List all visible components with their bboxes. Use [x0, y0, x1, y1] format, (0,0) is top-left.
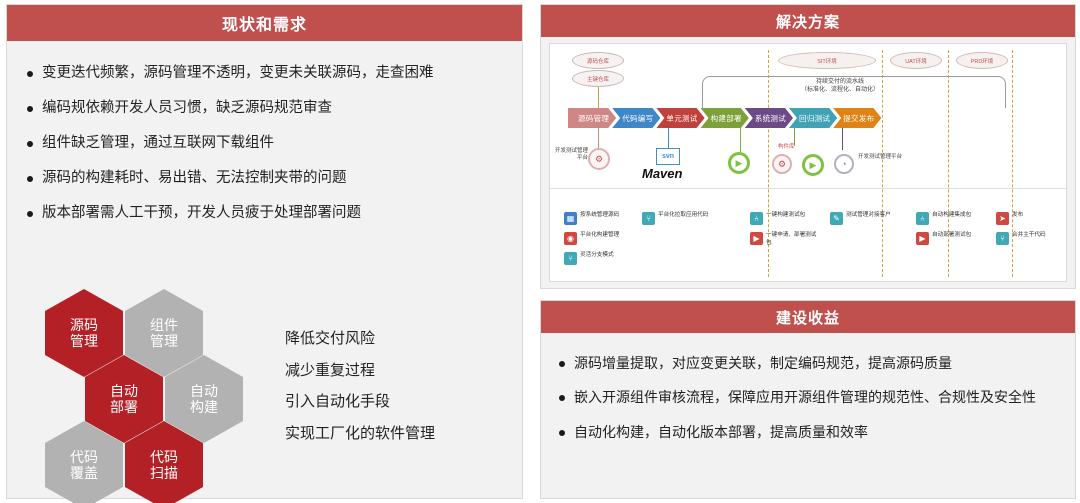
- bullet-text: 组件缺乏管理，通过互联网下载组件: [42, 133, 274, 154]
- solution-title: 解决方案: [541, 5, 1075, 37]
- goal-item: 降低交付风险: [285, 329, 515, 349]
- branch-icon: ⑂: [642, 212, 655, 225]
- pipeline-label-line2: （标准化、流程化、自动化）: [801, 87, 879, 93]
- release-icon: ➤: [996, 212, 1009, 225]
- stage-stem-line: [668, 128, 669, 148]
- play-icon: ▶: [802, 154, 824, 176]
- stage-system-test[interactable]: 系统测试: [745, 108, 793, 128]
- solution-panel: 解决方案 源码仓库 主键仓库 SIT环境 UAT环境 PRD环境 持续: [540, 4, 1076, 289]
- pipeline-bracket-label: 持续交付的流水线 （标准化、流程化、自动化）: [740, 78, 940, 94]
- solution-body: 源码仓库 主键仓库 SIT环境 UAT环境 PRD环境 持续交付的流水线 （标准…: [541, 37, 1075, 288]
- stage-unit-test[interactable]: 单元测试: [656, 108, 704, 128]
- benefit-body: 源码增量提取，对应变更关联，制定编码规范，提高源码质量 嵌入开源组件审核流程，保…: [541, 333, 1075, 498]
- hexagon-label-line1: 源码: [70, 317, 98, 333]
- hexagon-label-line2: 扫描: [150, 465, 178, 481]
- capability-hexagon-cluster: 源码管理 组件管理 自动部署 自动构建 代码覆盖 代码扫描: [33, 289, 263, 503]
- hexagon-label-line1: 自动: [110, 383, 138, 399]
- list-item: ▶ 自动部署测试包: [916, 232, 986, 245]
- stage-code-writing[interactable]: 代码编写: [612, 108, 660, 128]
- repo-connector-line: [598, 87, 599, 108]
- list-item: ⑃ 自动构建集成包: [916, 212, 986, 225]
- hexagon-label-line2: 部署: [110, 399, 138, 415]
- capability-column-5: ⑃ 自动构建集成包 ▶ 自动部署测试包: [916, 212, 986, 252]
- list-item: ⑂ 合并主干代码: [996, 232, 1067, 245]
- capability-label: 自动部署测试包: [932, 232, 971, 240]
- source-repo-oval: 源码仓库: [572, 52, 624, 69]
- prd-env-oval: PRD环境: [956, 52, 1008, 69]
- merge-icon: ⑂: [996, 232, 1009, 245]
- stage-stem-line: [842, 128, 843, 150]
- build-repo-oval: 主键仓库: [572, 70, 624, 87]
- current-state-bullet-list: 变更迭代频繁，源码管理不透明，变更未关联源码，走查困难 编码规依赖开发人员习惯，…: [7, 41, 522, 224]
- bullet-dot-icon: [27, 106, 33, 112]
- gear-icon: ⚙: [772, 154, 792, 174]
- package-icon: ⑃: [916, 212, 929, 225]
- bullet-text: 变更迭代频繁，源码管理不透明，变更未关联源码，走查困难: [42, 63, 434, 84]
- list-item: 源码的构建耗时、易出错、无法控制夹带的问题: [27, 168, 508, 189]
- bullet-text: 源码增量提取，对应变更关联，制定编码规范，提高源码质量: [574, 353, 952, 373]
- current-state-panel: 现状和需求 变更迭代频繁，源码管理不透明，变更未关联源码，走查困难 编码规依赖开…: [6, 4, 523, 499]
- list-item: 嵌入开源组件审核流程，保障应用开源组件管理的规范性、合规性及安全性: [559, 387, 1053, 407]
- bullet-text: 自动化构建，自动化版本部署，提高质量和效率: [574, 422, 868, 442]
- bullet-dot-icon: [27, 211, 33, 217]
- goal-item: 减少重复过程: [285, 361, 515, 381]
- capability-column-4: ✎ 测试管理对接客户: [830, 212, 900, 232]
- list-item: 编码规依赖开发人员习惯，缺乏源码规范审查: [27, 98, 508, 119]
- capability-label: 自动构建集成包: [932, 212, 971, 220]
- bullet-dot-icon: [27, 141, 33, 147]
- bullet-dot-icon: [27, 176, 33, 182]
- hexagon-label-line2: 覆盖: [70, 465, 98, 481]
- list-item: 变更迭代频繁，源码管理不透明，变更未关联源码，走查困难: [27, 63, 508, 84]
- stage-release[interactable]: 提交发布: [833, 108, 881, 128]
- capability-label: 平台化构建管理: [580, 232, 619, 240]
- dev-test-platform-label-left: 开发测试管理平台: [554, 148, 588, 162]
- devops-pipeline-diagram: 源码仓库 主键仓库 SIT环境 UAT环境 PRD环境 持续交付的流水线 （标准…: [549, 43, 1067, 282]
- bullet-text: 编码规依赖开发人员习惯，缺乏源码规范审查: [42, 98, 332, 119]
- list-item: 自动化构建，自动化版本部署，提高质量和效率: [559, 422, 1053, 442]
- capability-column-2: ⑂ 平台化拉取应用代码: [642, 212, 712, 232]
- deploy-icon: ▶: [916, 232, 929, 245]
- list-item: ⑂ 平台化拉取应用代码: [642, 212, 712, 225]
- goal-list: 降低交付风险 减少重复过程 引入自动化手段 实现工厂化的软件管理: [285, 329, 515, 455]
- pipeline-stage-row: 源码管理 代码编写 单元测试 构建部署 系统测试 回归测试 提交发布: [568, 108, 877, 128]
- package-icon: ⑃: [750, 212, 763, 225]
- hexagon-label-line1: 自动: [190, 383, 218, 399]
- list-item: ⑂ 灵活分支模式: [564, 252, 634, 265]
- hexagon-label-line2: 构建: [190, 399, 218, 415]
- gauge-icon: ◔: [834, 154, 854, 174]
- pipeline-label-line1: 持续交付的流水线: [816, 79, 864, 85]
- diagram-divider: [550, 188, 1066, 189]
- sit-env-oval: SIT环境: [778, 52, 876, 69]
- list-item: ▦ 按系统管理源码: [564, 212, 634, 225]
- stage-regression-test[interactable]: 回归测试: [789, 108, 837, 128]
- capability-label: 一键申请、部署测试包: [766, 232, 818, 247]
- capability-label: 平台化拉取应用代码: [658, 212, 708, 220]
- branch-icon: ⑂: [564, 252, 577, 265]
- play-icon: ▶: [728, 152, 750, 174]
- bullet-text: 源码的构建耗时、易出错、无法控制夹带的问题: [42, 168, 347, 189]
- current-state-body: 变更迭代频繁，源码管理不透明，变更未关联源码，走查困难 编码规依赖开发人员习惯，…: [7, 41, 522, 498]
- list-item: ◉ 平台化构建管理: [564, 232, 634, 245]
- goal-item: 引入自动化手段: [285, 392, 515, 412]
- list-item: 组件缺乏管理，通过互联网下载组件: [27, 133, 508, 154]
- capability-label: 合并主干代码: [1012, 232, 1046, 240]
- grid-icon: ▦: [564, 212, 577, 225]
- bullet-text: 版本部署需人工干预，开发人员疲于处理部署问题: [42, 203, 361, 224]
- slide-canvas: 现状和需求 变更迭代频繁，源码管理不透明，变更未关联源码，走查困难 编码规依赖开…: [0, 0, 1080, 503]
- bullet-dot-icon: [559, 361, 565, 367]
- build-icon: ◉: [564, 232, 577, 245]
- uat-env-oval: UAT环境: [890, 52, 942, 69]
- list-item: ✎ 测试管理对接客户: [830, 212, 900, 225]
- benefit-bullet-list: 源码增量提取，对应变更关联，制定编码规范，提高源码质量 嵌入开源组件审核流程，保…: [541, 333, 1075, 442]
- gear-icon: ⚙: [588, 148, 610, 170]
- stage-source-management[interactable]: 源码管理: [568, 108, 616, 128]
- hexagon-label-line2: 管理: [150, 333, 178, 349]
- maven-logo: Maven: [642, 166, 682, 181]
- list-item: 源码增量提取，对应变更关联，制定编码规范，提高源码质量: [559, 353, 1053, 373]
- bullet-dot-icon: [559, 430, 565, 436]
- list-item: ⑃ 一键构建测试包: [750, 212, 820, 225]
- dev-test-platform-label-right: 开发测试管理平台: [858, 154, 902, 161]
- list-item: ▶ 一键申请、部署测试包: [750, 232, 820, 247]
- svn-logo: svn: [656, 148, 680, 165]
- edit-icon: ✎: [830, 212, 843, 225]
- capability-column-1: ▦ 按系统管理源码 ◉ 平台化构建管理 ⑂ 灵活分支模式: [564, 212, 634, 272]
- capability-column-6: ➤ 发布 ⑂ 合并主干代码: [996, 212, 1067, 252]
- goal-item: 实现工厂化的软件管理: [285, 424, 515, 444]
- bullet-dot-icon: [27, 71, 33, 77]
- hexagon-label-line1: 组件: [150, 317, 178, 333]
- capability-label: 测试管理对接客户: [846, 212, 891, 220]
- list-item: ➤ 发布: [996, 212, 1067, 225]
- bullet-text: 嵌入开源组件审核流程，保障应用开源组件管理的规范性、合规性及安全性: [574, 387, 1036, 407]
- artifact-repo-label: 构件库: [778, 142, 795, 150]
- hexagon-label-line1: 代码: [70, 449, 98, 465]
- capability-label: 按系统管理源码: [580, 212, 619, 220]
- hexagon-label-line1: 代码: [150, 449, 178, 465]
- stage-build-deploy[interactable]: 构建部署: [701, 108, 749, 128]
- benefit-title: 建设收益: [541, 301, 1075, 333]
- capability-label: 一键构建测试包: [766, 212, 805, 220]
- current-state-title: 现状和需求: [7, 5, 522, 41]
- list-item: 版本部署需人工干预，开发人员疲于处理部署问题: [27, 203, 508, 224]
- construction-benefit-panel: 建设收益 源码增量提取，对应变更关联，制定编码规范，提高源码质量 嵌入开源组件审…: [540, 300, 1076, 499]
- capability-column-3: ⑃ 一键构建测试包 ▶ 一键申请、部署测试包: [750, 212, 820, 254]
- deploy-icon: ▶: [750, 232, 763, 245]
- stage-stem-line: [740, 128, 741, 152]
- bullet-dot-icon: [559, 395, 565, 401]
- capability-label: 灵活分支模式: [580, 252, 614, 260]
- capability-label: 发布: [1012, 212, 1023, 220]
- hexagon-label-line2: 管理: [70, 333, 98, 349]
